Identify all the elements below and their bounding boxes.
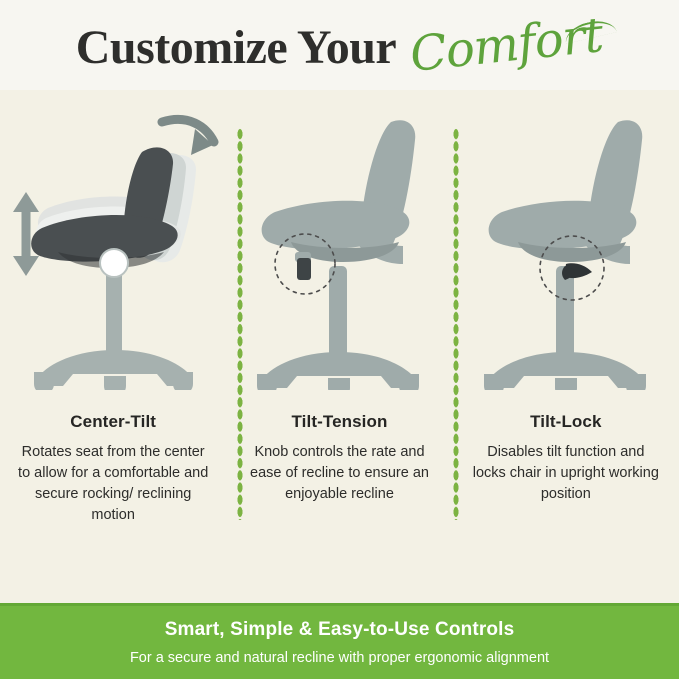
feature-columns: Center-Tilt Rotates seat from the center… [0, 90, 679, 603]
main-content: Center-Tilt Rotates seat from the center… [0, 90, 679, 603]
feature-title-center-tilt: Center-Tilt [70, 412, 156, 432]
page-title-script: Comfort [408, 11, 605, 79]
office-chair-tilt-lock-icon [466, 100, 666, 390]
feature-column-center-tilt: Center-Tilt Rotates seat from the center… [0, 90, 226, 603]
page-title-script-text: Comfort [408, 7, 606, 83]
feature-description-center-tilt: Rotates seat from the center to allow fo… [17, 442, 209, 526]
feature-description-tilt-tension: Knob controls the rate and ease of recli… [243, 442, 435, 505]
feature-title-tilt-tension: Tilt-Tension [292, 412, 388, 432]
feature-title-tilt-lock: Tilt-Lock [530, 412, 601, 432]
page-title-main: Customize Your [76, 24, 397, 72]
office-chair-tilt-tension-icon [239, 100, 439, 390]
footer-banner-title: Smart, Simple & Easy-to-Use Controls [165, 619, 515, 641]
feature-column-tilt-tension: Tilt-Tension Knob controls the rate and … [226, 90, 452, 603]
page-title: Customize Your Comfort [76, 23, 604, 72]
tension-knob-icon [295, 252, 311, 280]
footer-banner: Smart, Simple & Easy-to-Use Controls For… [0, 603, 679, 679]
feature-column-tilt-lock: Tilt-Lock Disables tilt function and loc… [453, 90, 679, 603]
footer-banner-subtitle: For a secure and natural recline with pr… [130, 650, 549, 666]
office-chair-center-tilt-icon [6, 100, 221, 390]
rotation-arrow-icon [162, 119, 214, 142]
tilt-lock-lever-icon [562, 263, 592, 280]
infographic-page: Customize Your Comfort [0, 0, 679, 679]
chair-illustration-tilt-tension [226, 90, 452, 390]
feature-description-tilt-lock: Disables tilt function and locks chair i… [470, 442, 662, 505]
chair-illustration-center-tilt [0, 90, 226, 390]
header-band: Customize Your Comfort [0, 0, 679, 90]
chair-illustration-tilt-lock [453, 90, 679, 390]
